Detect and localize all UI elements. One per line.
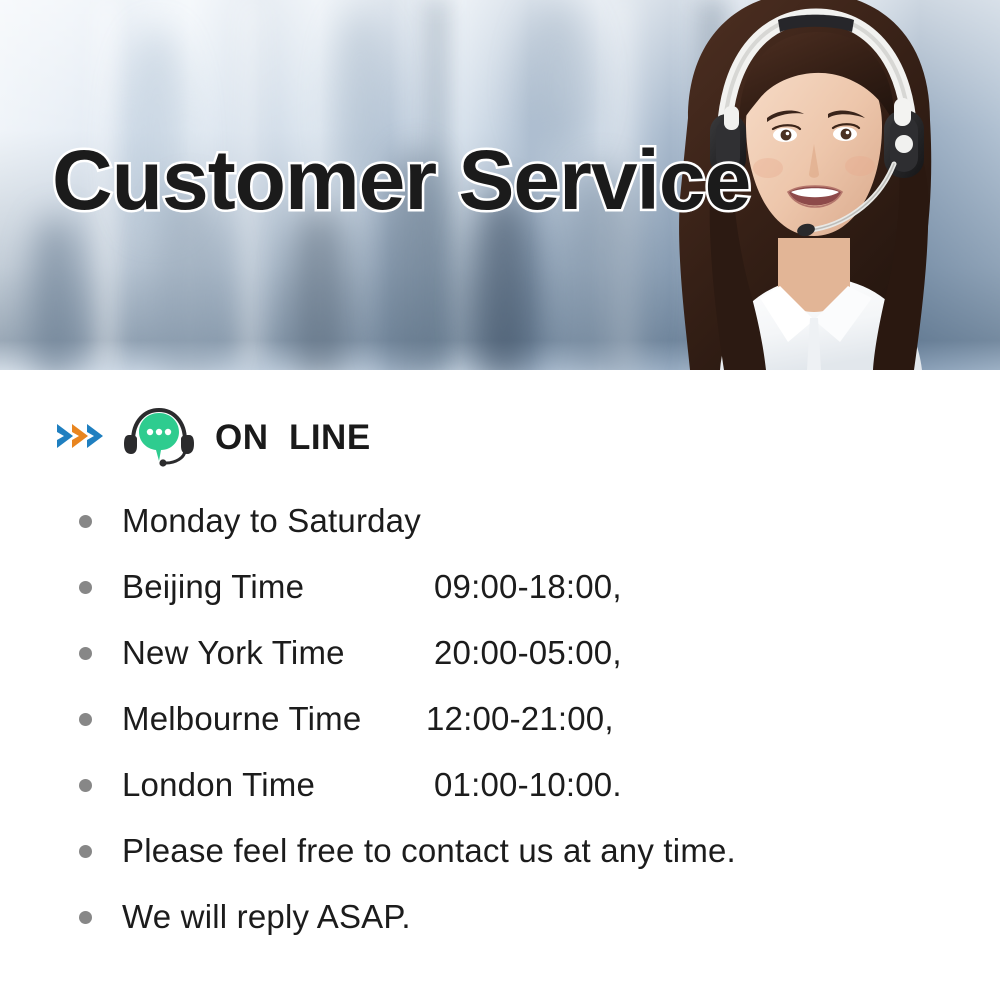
- list-item: Beijing Time 09:00-18:00,: [0, 554, 1000, 620]
- list-item-label: London Time: [122, 766, 315, 804]
- list-item: Melbourne Time 12:00-21:00,: [0, 686, 1000, 752]
- chat-headset-icon: [123, 405, 195, 472]
- page-title: Customer Service: [52, 138, 750, 222]
- list-item-label: Monday to Saturday: [122, 502, 421, 540]
- customer-service-card: Customer Service: [0, 0, 1000, 1000]
- bullet-icon: [79, 647, 92, 660]
- bullet-icon: [79, 911, 92, 924]
- online-status-row: ON LINE: [55, 410, 371, 466]
- list-item-label: New York Time: [122, 634, 345, 672]
- list-item: Monday to Saturday: [0, 488, 1000, 554]
- bullet-icon: [79, 581, 92, 594]
- bullet-icon: [79, 779, 92, 792]
- content-area: ON LINE Monday to Saturday Beijing Time …: [0, 370, 1000, 1000]
- list-item-label: Beijing Time: [122, 568, 304, 606]
- list-item-label: Melbourne Time: [122, 700, 361, 738]
- list-item: London Time 01:00-10:00.: [0, 752, 1000, 818]
- online-label: ON LINE: [215, 418, 371, 458]
- list-item-label: Please feel free to contact us at any ti…: [122, 832, 736, 870]
- bullet-icon: [79, 713, 92, 726]
- list-item-time: 01:00-10:00.: [434, 766, 622, 804]
- header-banner: Customer Service: [0, 0, 1000, 370]
- list-item: Please feel free to contact us at any ti…: [0, 818, 1000, 884]
- list-item: New York Time 20:00-05:00,: [0, 620, 1000, 686]
- triple-chevron-right-icon: [55, 421, 105, 456]
- list-item-time: 20:00-05:00,: [434, 634, 622, 672]
- background-figure-silhouette: [520, 0, 596, 150]
- bullet-icon: [79, 845, 92, 858]
- list-item-time: 09:00-18:00,: [434, 568, 622, 606]
- bullet-icon: [79, 515, 92, 528]
- list-item-time: 12:00-21:00,: [426, 700, 614, 738]
- list-item-label: We will reply ASAP.: [122, 898, 411, 936]
- list-item: We will reply ASAP.: [0, 884, 1000, 950]
- service-hours-list: Monday to Saturday Beijing Time 09:00-18…: [0, 488, 1000, 950]
